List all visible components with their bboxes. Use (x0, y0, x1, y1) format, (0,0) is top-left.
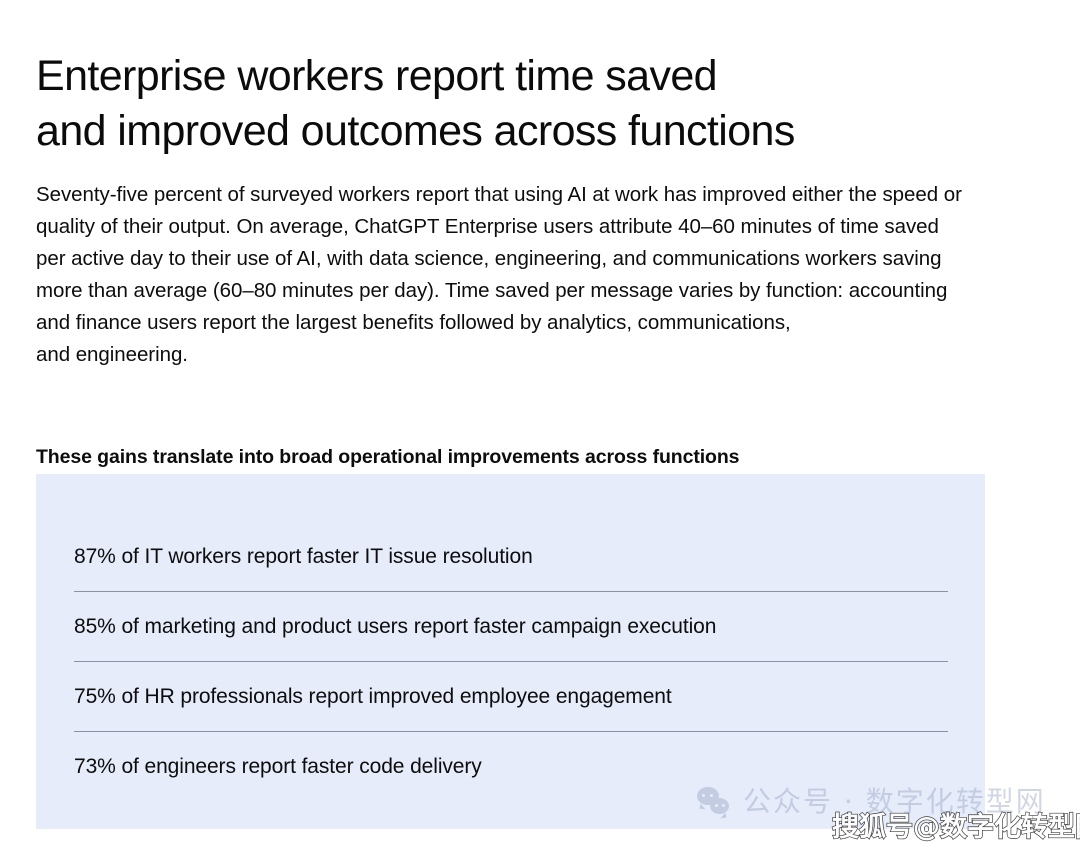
stats-panel: 87% of IT workers report faster IT issue… (36, 474, 985, 829)
article-page: Enterprise workers report time saved and… (0, 0, 1080, 852)
stat-text: 75% of HR professionals report improved … (74, 683, 672, 711)
stat-text: 85% of marketing and product users repor… (74, 613, 716, 641)
stat-text: 73% of engineers report faster code deli… (74, 753, 482, 781)
body-paragraph: Seventy-five percent of surveyed workers… (36, 179, 966, 371)
list-item: 85% of marketing and product users repor… (74, 592, 948, 662)
list-item: 73% of engineers report faster code deli… (74, 732, 948, 802)
stat-text: 87% of IT workers report faster IT issue… (74, 543, 533, 571)
stats-list: 87% of IT workers report faster IT issue… (74, 522, 948, 802)
list-item: 87% of IT workers report faster IT issue… (74, 522, 948, 592)
page-title: Enterprise workers report time saved and… (36, 49, 996, 159)
section-subheading: These gains translate into broad operati… (36, 444, 996, 470)
list-item: 75% of HR professionals report improved … (74, 662, 948, 732)
